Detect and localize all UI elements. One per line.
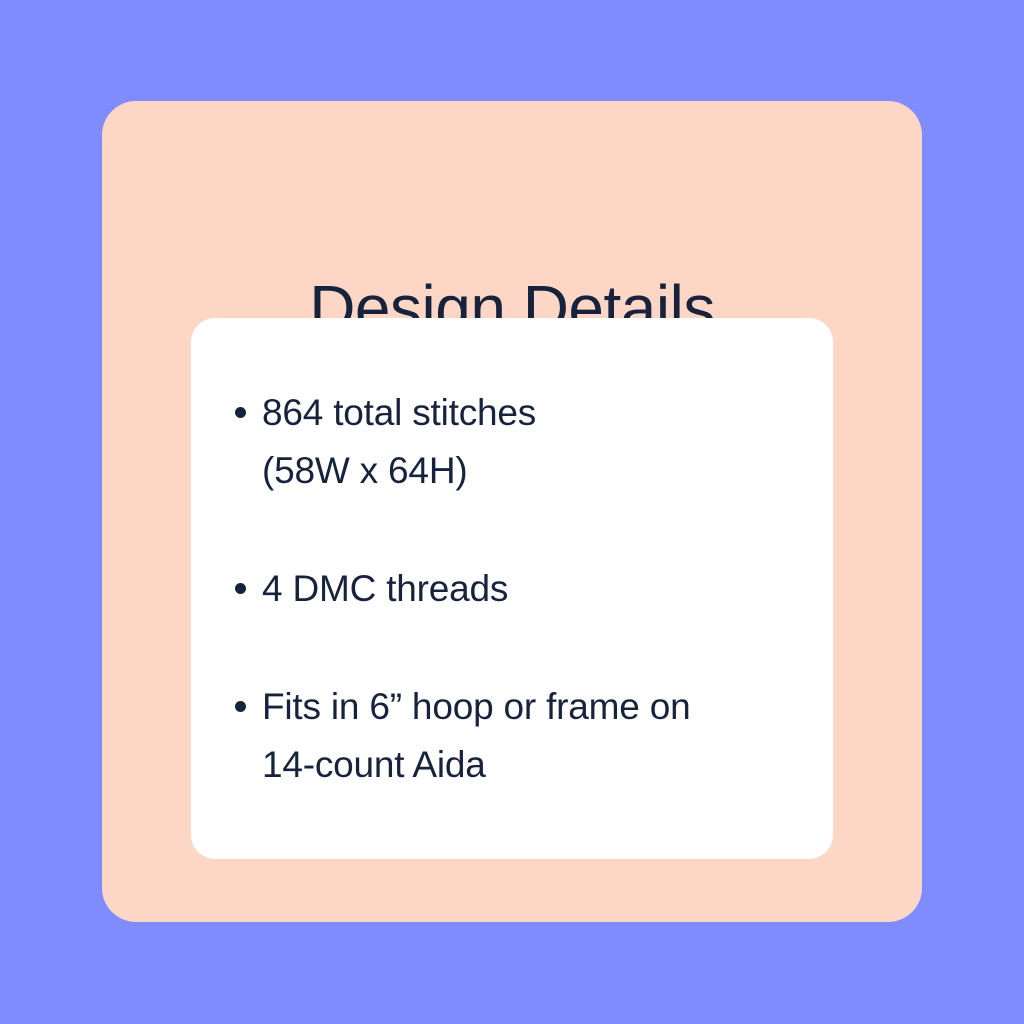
bullet-dot-icon <box>235 583 246 594</box>
list-item-label: 864 total stitches (58W x 64H) <box>262 384 823 500</box>
details-bullet-list: 864 total stitches (58W x 64H) 4 DMC thr… <box>232 384 823 794</box>
list-item: Fits in 6” hoop or frame on 14-count Aid… <box>232 678 823 794</box>
list-item-label: 4 DMC threads <box>262 560 823 618</box>
list-item-label: Fits in 6” hoop or frame on 14-count Aid… <box>262 678 823 794</box>
list-item: 864 total stitches (58W x 64H) <box>232 384 823 500</box>
design-details-card: Design Details 864 total stitches (58W x… <box>102 101 922 922</box>
details-panel: 864 total stitches (58W x 64H) 4 DMC thr… <box>191 318 833 859</box>
list-item: 4 DMC threads <box>232 560 823 618</box>
page-canvas: Design Details 864 total stitches (58W x… <box>0 0 1024 1024</box>
bullet-dot-icon <box>235 407 246 418</box>
bullet-dot-icon <box>235 701 246 712</box>
